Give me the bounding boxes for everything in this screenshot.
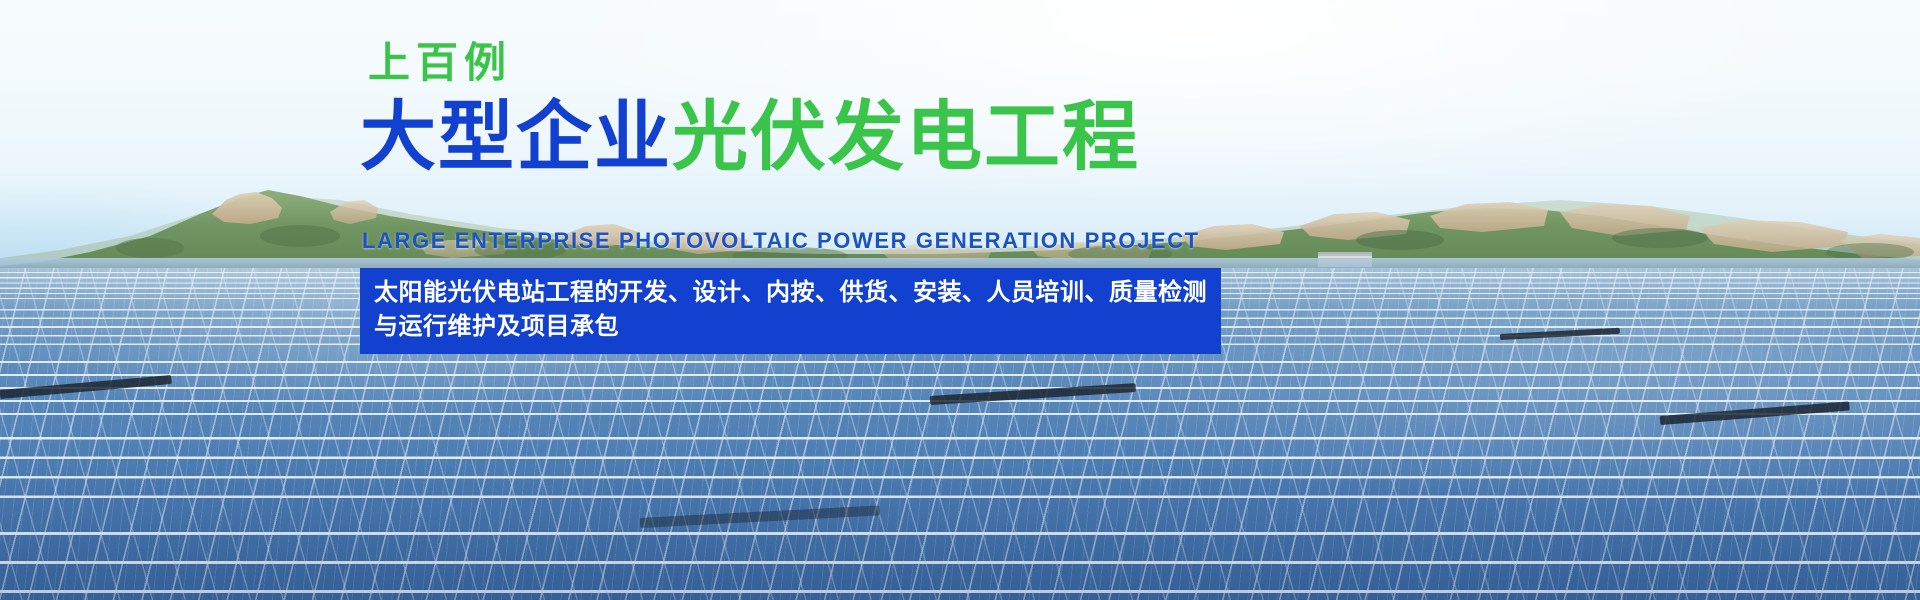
- vegetation-clump: [1356, 230, 1444, 250]
- vegetation-clump: [1612, 228, 1708, 248]
- panel-foreground-shadow: [0, 268, 1920, 600]
- photovoltaic-project-banner: 上百例 大型企业光伏发电工程 LARGE ENTERPRISE PHOTOVOL…: [0, 0, 1920, 600]
- solar-panel-array: [0, 268, 1920, 600]
- shoreline-building-roof: [1318, 252, 1372, 256]
- vegetation-clump: [474, 240, 566, 260]
- vegetation-clump: [116, 238, 184, 258]
- vegetation-clump: [260, 225, 340, 247]
